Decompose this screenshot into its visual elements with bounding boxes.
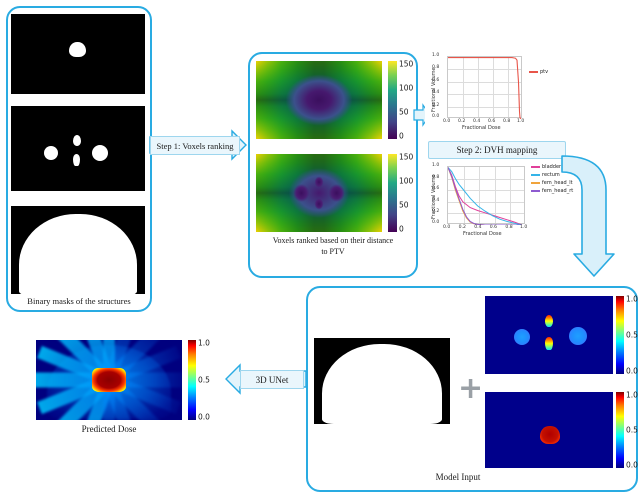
dvh-oar-xtick: 0.2 xyxy=(459,225,466,230)
body-mask-panel xyxy=(11,206,145,294)
legend-label: bladder xyxy=(542,164,561,170)
fem-head-left-shape xyxy=(514,329,530,345)
dvh-oar-xtick: 0.0 xyxy=(443,225,450,230)
unet-arrow-label: 3D UNet xyxy=(240,370,304,389)
dvh-oar-ytick: 0.0 xyxy=(432,220,439,225)
voxel-ranking-colorbar-bottom: 150 100 50 0 xyxy=(388,154,397,232)
cbar-tick: 0.5 xyxy=(626,331,638,340)
dvh-oar-plot-area xyxy=(447,166,525,224)
dvh-oar-xtick: 0.4 xyxy=(474,225,481,230)
cbar-tick: 0.0 xyxy=(198,413,210,422)
cbar-tick: 50 xyxy=(399,108,409,117)
legend-swatch xyxy=(531,166,540,168)
cbar-tick: 1.0 xyxy=(626,391,638,400)
dvh-oar-xaxis-label: Fractional Dose xyxy=(463,231,502,237)
dvh-to-model-input-arrow-icon xyxy=(560,150,640,280)
voxel-ranking-caption-line2: to PTV xyxy=(250,247,416,256)
model-input-body-mask xyxy=(314,338,450,424)
dvh-oar-yaxis-label: Fractional Volume xyxy=(431,174,437,219)
dvh-ptv-xtick: 0.2 xyxy=(458,119,465,124)
bladder-shape xyxy=(73,135,81,146)
legend-label: rectum xyxy=(542,172,560,178)
dvh-oar-xtick: 0.8 xyxy=(505,225,512,230)
dvh-ptv-chart: 1.0 0.8 0.6 0.4 0.2 0.0 0.0 0.2 0.4 0.6 … xyxy=(425,50,585,142)
predicted-dose-caption: Predicted Dose xyxy=(36,424,182,434)
predicted-dose-map xyxy=(36,340,182,420)
model-input-caption: Model Input xyxy=(368,472,548,482)
body-contour-shape xyxy=(19,214,137,294)
legend-swatch xyxy=(531,190,540,192)
fem-head-right-shape xyxy=(92,145,108,161)
binary-masks-caption: Binary masks of the structures xyxy=(8,296,150,306)
model-input-oar-map xyxy=(485,296,613,374)
dvh-ptv-xtick: 0.6 xyxy=(488,119,495,124)
dvh-ptv-yaxis-label: Fractional Volume xyxy=(431,67,437,112)
legend-swatch xyxy=(531,182,540,184)
dvh-oar-ytick: 1.0 xyxy=(432,163,439,168)
oar-mask-panel xyxy=(11,106,145,191)
rectum-shape xyxy=(545,337,553,350)
predicted-dose-panel: 1.0 0.5 0.0 Predicted Dose xyxy=(36,340,226,450)
predicted-dose-colorbar: 1.0 0.5 0.0 xyxy=(188,340,196,420)
dvh-ptv-xaxis-label: Fractional Dose xyxy=(462,125,501,131)
ptv-blob-shape xyxy=(540,426,560,444)
dvh-ptv-xtick: 0.8 xyxy=(503,119,510,124)
cbar-tick: 100 xyxy=(399,84,413,93)
cbar-tick: 0.0 xyxy=(626,367,638,376)
bladder-shape xyxy=(545,315,553,327)
ptv-mask-panel xyxy=(11,14,145,94)
model-input-ptv-colorbar: 1.0 0.5 0.0 xyxy=(616,392,624,468)
legend-swatch xyxy=(529,71,538,73)
plus-symbol: + xyxy=(458,374,483,404)
dvh-ptv-ytick: 1.0 xyxy=(432,53,439,58)
dvh-ptv-xtick: 1.0 xyxy=(517,119,524,124)
step1-arrow-label: Step 1: Voxels ranking xyxy=(150,136,240,155)
voxel-ranking-caption-line1: Voxels ranked based on their distance xyxy=(250,236,416,245)
cbar-tick: 1.0 xyxy=(626,295,638,304)
cbar-tick: 0 xyxy=(399,132,404,141)
dvh-ptv-curve xyxy=(448,57,523,119)
voxel-ranking-colorbar-top: 150 100 50 0 xyxy=(388,61,397,139)
cbar-tick: 1.0 xyxy=(198,339,210,348)
dvh-ptv-plot-area xyxy=(447,56,522,118)
legend-label: ptv xyxy=(540,69,548,75)
cbar-tick: 0 xyxy=(399,225,404,234)
rectum-shape xyxy=(73,154,80,166)
body-contour-shape xyxy=(322,344,442,424)
ptv-blob-shape xyxy=(69,42,86,57)
dvh-ptv-xtick: 0.0 xyxy=(443,119,450,124)
model-input-oar-colorbar: 1.0 0.5 0.0 xyxy=(616,296,624,374)
fem-head-right-shape xyxy=(569,327,587,345)
voxel-ranking-ptv-map xyxy=(256,61,382,139)
dvh-ptv-ytick: 0.0 xyxy=(432,114,439,119)
model-input-group: + 1.0 0.5 0.0 1.0 0.5 0.0 Model Input xyxy=(306,286,638,492)
dvh-oar-legend-item: rectum xyxy=(531,172,560,178)
dvh-oar-legend-item: bladder xyxy=(531,164,561,170)
model-input-ptv-map xyxy=(485,392,613,468)
cbar-tick: 0.5 xyxy=(198,376,210,385)
step2-arrow-label: Step 2: DVH mapping xyxy=(428,141,566,159)
dvh-ptv-legend-item: ptv xyxy=(529,69,548,75)
cbar-tick: 100 xyxy=(399,177,413,186)
voxel-ranking-group: 150 100 50 0 150 100 50 0 Voxels ranked … xyxy=(248,52,418,278)
dvh-ptv-xtick: 0.4 xyxy=(473,119,480,124)
voxel-ranking-oar-map xyxy=(256,154,382,232)
dvh-oar-curves xyxy=(448,167,526,225)
cbar-tick: 150 xyxy=(399,60,413,69)
binary-masks-group: Binary masks of the structures xyxy=(6,6,152,312)
cbar-tick: 0.5 xyxy=(626,426,638,435)
cbar-tick: 0.0 xyxy=(626,461,638,470)
dvh-oar-xtick: 0.6 xyxy=(490,225,497,230)
fem-head-left-shape xyxy=(44,146,58,160)
cbar-tick: 150 xyxy=(399,153,413,162)
cbar-tick: 50 xyxy=(399,201,409,210)
dvh-oar-xtick: 1.0 xyxy=(520,225,527,230)
legend-swatch xyxy=(531,174,540,176)
